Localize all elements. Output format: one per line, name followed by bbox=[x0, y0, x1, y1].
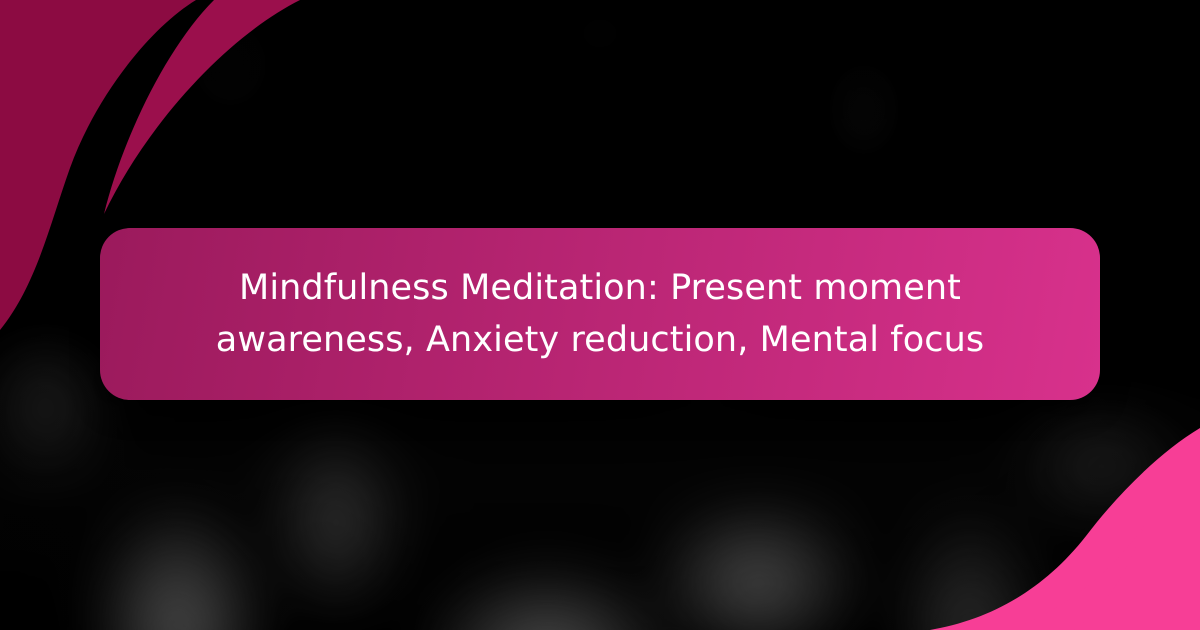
headline-plate: Mindfulness Meditation: Present moment a… bbox=[100, 228, 1100, 400]
headline-text: Mindfulness Meditation: Present moment a… bbox=[146, 262, 1054, 366]
og-card: Mindfulness Meditation: Present moment a… bbox=[0, 0, 1200, 630]
